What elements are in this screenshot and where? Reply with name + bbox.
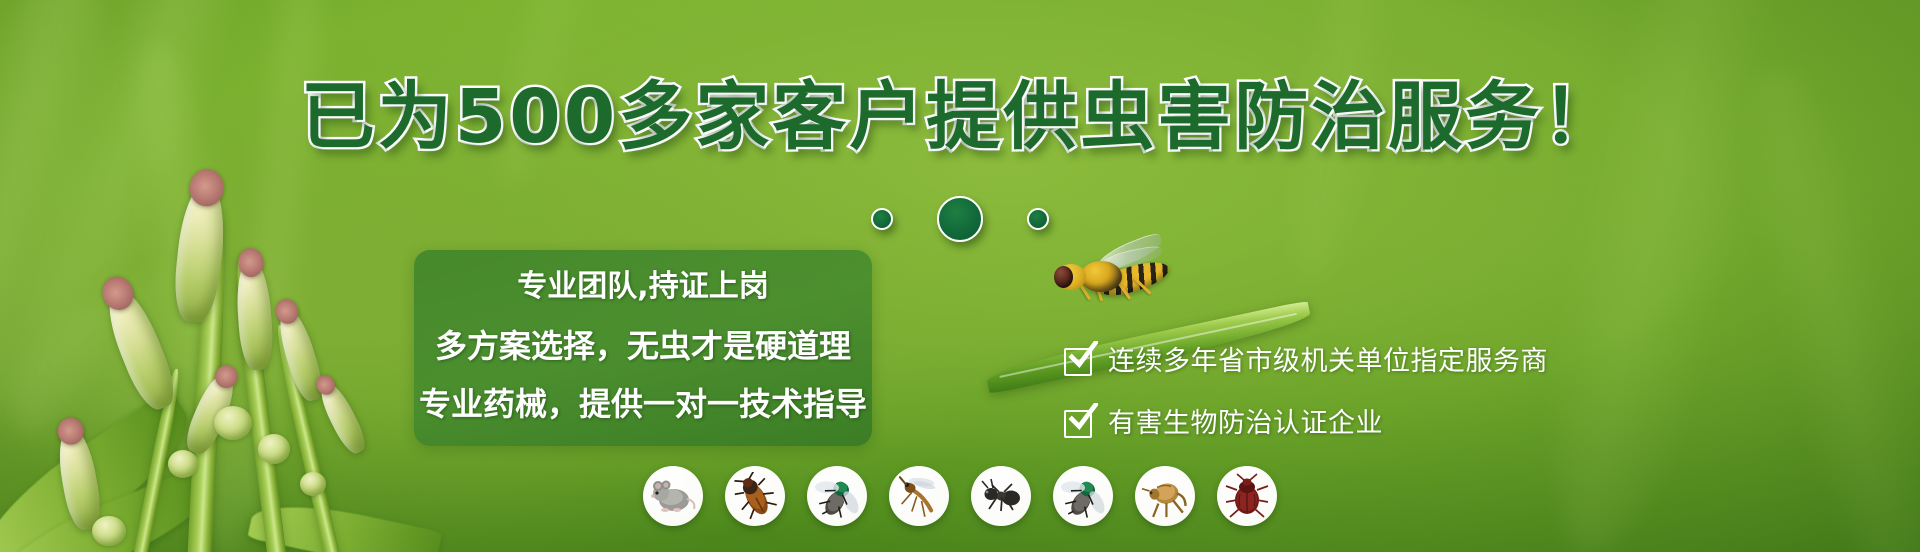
credentials-checklist: 连续多年省市级机关单位指定服务商 有害生物防治认证企业 <box>1064 336 1548 450</box>
check-mark-icon <box>1068 403 1098 433</box>
mouse-icon[interactable] <box>643 466 703 526</box>
fly-icon[interactable] <box>1053 466 1113 526</box>
flea-icon[interactable] <box>1135 466 1195 526</box>
selling-point-line-2: 多方案选择，无虫才是硬道理 <box>414 327 872 365</box>
decorative-dot-small-left <box>871 208 893 230</box>
checklist-item-label: 有害生物防治认证企业 <box>1108 409 1383 439</box>
checkbox-checked-icon <box>1064 410 1092 438</box>
selling-point-line-1: 专业团队,持证上岗 <box>414 269 872 305</box>
banner-headline: 已为500多家客户提供虫害防治服务！ <box>0 80 1920 154</box>
bedbug-icon[interactable] <box>1217 466 1277 526</box>
checklist-item: 有害生物防治认证企业 <box>1064 398 1548 450</box>
checkbox-checked-icon <box>1064 348 1092 376</box>
banner-headline-text: 已为500多家客户提供虫害防治服务！ <box>301 74 1619 160</box>
selling-point-line-3: 专业药械，提供一对一技术指导 <box>414 385 872 423</box>
checklist-item-label: 连续多年省市级机关单位指定服务商 <box>1108 347 1548 377</box>
pest-icon-row <box>0 466 1920 526</box>
decorative-dot-row <box>0 196 1920 242</box>
decorative-dot-large-center <box>937 196 983 242</box>
fly-eye <box>1054 266 1073 288</box>
decorative-dot-small-right <box>1027 208 1049 230</box>
checklist-item: 连续多年省市级机关单位指定服务商 <box>1064 336 1548 388</box>
check-mark-icon <box>1068 341 1098 371</box>
pest-control-banner: 已为500多家客户提供虫害防治服务！ 专业团队,持证上岗 多方案选择，无虫才是硬… <box>0 0 1920 552</box>
selling-points-panel: 专业团队,持证上岗 多方案选择，无虫才是硬道理 专业药械，提供一对一技术指导 <box>414 250 872 446</box>
ant-icon[interactable] <box>971 466 1031 526</box>
fly-icon[interactable] <box>807 466 867 526</box>
fly-thorax <box>1080 261 1122 292</box>
hoverfly-illustration <box>1046 246 1172 312</box>
cockroach-icon[interactable] <box>725 466 785 526</box>
mosquito-icon[interactable] <box>889 466 949 526</box>
